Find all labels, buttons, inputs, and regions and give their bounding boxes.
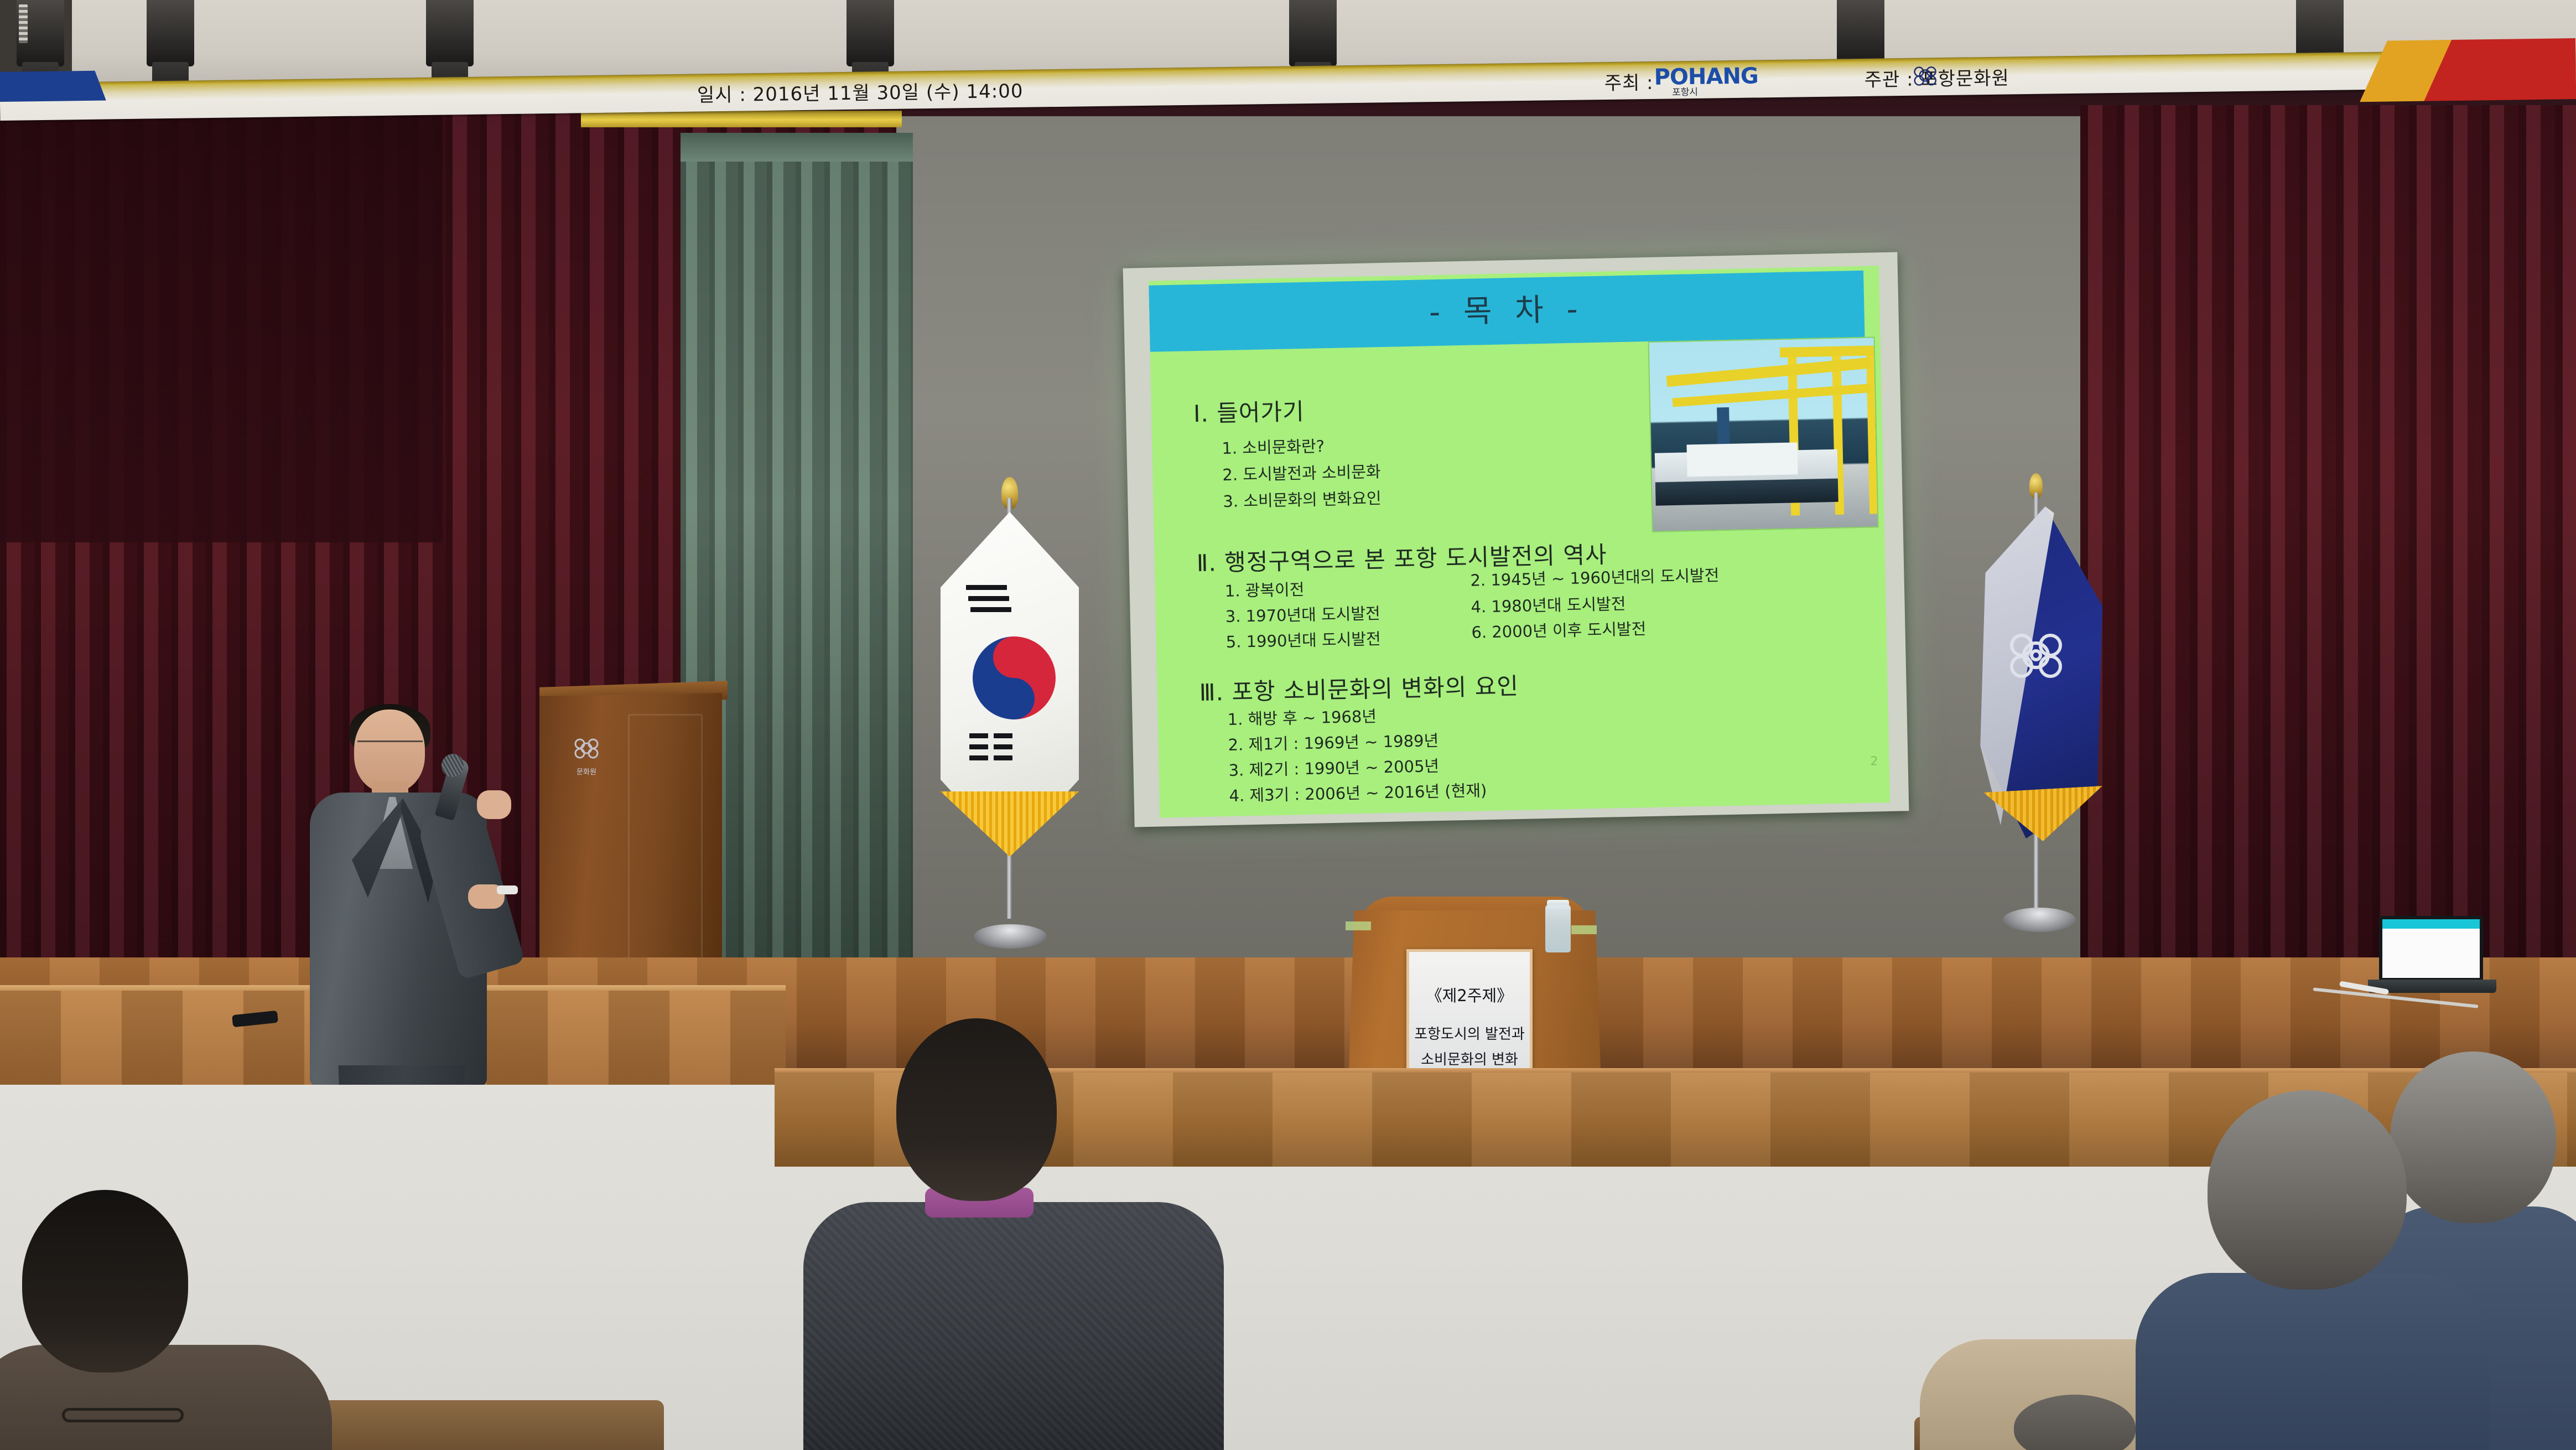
slide-section-1-item: 1. 소비문화란?: [1222, 433, 1325, 459]
slide-port-photo: [1648, 336, 1879, 532]
audience-glasses: [62, 1408, 184, 1422]
slide-section-3-item: 1. 해방 후 ~ 1968년: [1227, 703, 1377, 730]
podium-marker-left: [1346, 921, 1371, 930]
water-bottle: [1545, 905, 1571, 952]
slide-section-3-item: 2. 제1기 : 1969년 ~ 1989년: [1228, 728, 1438, 755]
stage-light-fixture: [17, 0, 64, 66]
projection-screen: - 목 차 - Ⅰ. 들어가기 1. 소비문화란? 2. 도시발전과 소비문화 …: [1123, 252, 1909, 827]
slide-section-2-item: 3. 1970년대 도시발전: [1225, 600, 1380, 627]
stage-light-fixture: [426, 0, 474, 66]
slide-section-3-heading: Ⅲ. 포항 소비문화의 변화의 요인: [1199, 667, 1519, 708]
pohang-logo-en: POHANG: [1654, 63, 1758, 90]
flag-stand-right: [2003, 908, 2076, 932]
podium-sign-line-2: 소비문화의 변화: [1409, 1048, 1530, 1069]
audience-member-body: [2136, 1273, 2490, 1450]
lectern-front-panel: [628, 714, 703, 969]
stage-curtain-left-shadow: [0, 111, 443, 542]
audience-member-head: [2208, 1090, 2407, 1290]
slide-section-3-item: 3. 제2기 : 1990년 ~ 2005년: [1228, 753, 1439, 781]
culture-center-emblem-icon: [1911, 63, 1939, 88]
organization-flag-emblem-icon: [2003, 625, 2069, 685]
slide-section-2-item: 2. 1945년 ~ 1960년대의 도시발전: [1470, 562, 1720, 591]
presenter-laptop[interactable]: [2379, 916, 2483, 981]
green-curtain-valance: [681, 133, 913, 162]
slide-section-2-item: 6. 2000년 이후 도시발전: [1471, 616, 1647, 643]
audience-member-head: [2390, 1052, 2556, 1223]
flag-stand-left: [974, 924, 1047, 949]
stage-curtain-right: [2080, 105, 2576, 1024]
presentation-slide: - 목 차 - Ⅰ. 들어가기 1. 소비문화란? 2. 도시발전과 소비문화 …: [1149, 266, 1890, 817]
lecture-hall-photo: 일시 : 2016년 11월 30일 (수) 14:00 주최 : POHANG…: [0, 0, 2576, 1450]
speaker-glasses: [357, 740, 423, 752]
audience-member-body: [0, 1345, 332, 1450]
speaker-hand-holding-mic: [477, 790, 511, 819]
podium-sign-line-1: 포항도시의 발전과: [1409, 1023, 1530, 1043]
pohang-city-logo: POHANG 포항시: [1654, 62, 1787, 95]
slide-section-4-heading: Ⅳ. 시사점 및 맺는말: [1202, 810, 1410, 817]
slide-section-2-item: 1. 광복이전: [1224, 577, 1304, 602]
audience-member-body: [803, 1202, 1224, 1450]
slide-section-1-item: 3. 소비문화의 변화요인: [1223, 485, 1382, 512]
banner-host-label: 주최 :: [1604, 70, 1654, 96]
lectern-emblem-label: 문화원: [570, 766, 603, 776]
slide-page-number: 2: [1870, 754, 1878, 768]
podium-marker-right: [1571, 925, 1597, 934]
audience-member-head: [896, 1018, 1057, 1201]
stage-light-fixture: [846, 0, 894, 66]
banner-red-accent: [2266, 38, 2576, 103]
audience-member-head: [22, 1190, 188, 1373]
slide-section-1-item: 2. 도시발전과 소비문화: [1222, 459, 1381, 485]
slide-section-2-item: 4. 1980년대 도시발전: [1471, 591, 1626, 618]
banner-blue-accent: [0, 70, 166, 102]
slide-section-1-heading: Ⅰ. 들어가기: [1193, 393, 1305, 429]
pohang-logo-kr: 포항시: [1672, 84, 1698, 99]
presenter-remote-icon: [497, 885, 518, 894]
slide-section-3-item: 4. 제3기 : 2006년 ~ 2016년 (현재): [1229, 778, 1487, 806]
stage-light-fixture: [147, 0, 194, 66]
banner-datetime-text: 일시 : 2016년 11월 30일 (수) 14:00: [697, 79, 1024, 108]
taeguk-symbol: [973, 636, 1056, 719]
lectern-emblem-icon: 문화원: [570, 736, 603, 777]
podium-sign-topic-label: 《제2주제》: [1409, 983, 1530, 1006]
slide-section-2-item: 5. 1990년대 도시발전: [1225, 626, 1381, 652]
